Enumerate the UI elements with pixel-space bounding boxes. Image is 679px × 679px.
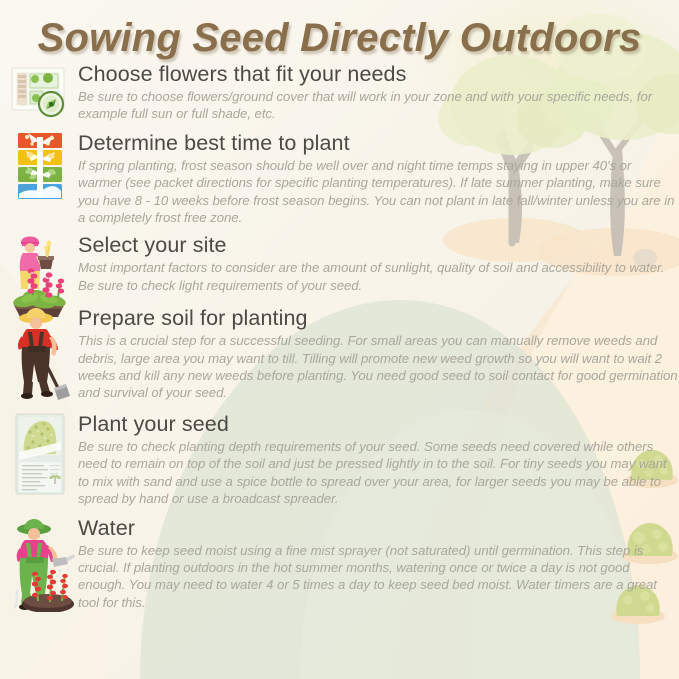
page-title: Sowing Seed Directly Outdoors — [38, 16, 642, 61]
step-heading: Choose flowers that fit your needs — [78, 62, 679, 87]
garden-plan-compass-icon — [8, 62, 72, 124]
seed-packet-icon — [8, 412, 72, 498]
gardener-watering-icon — [8, 516, 72, 612]
steps-list: Choose flowers that fit your needs Be su… — [0, 62, 679, 614]
step-heading: Plant your seed — [78, 412, 679, 437]
step-heading: Prepare soil for planting — [78, 306, 679, 331]
step-item: Choose flowers that fit your needs Be su… — [0, 62, 679, 123]
gardener-with-shovel-icon — [8, 306, 72, 402]
step-body: Be sure to keep seed moist using a fine … — [78, 542, 678, 612]
step-body: Be sure to choose flowers/ground cover t… — [78, 88, 678, 123]
step-item: Determine best time to plant If spring p… — [0, 131, 679, 227]
step-item: Plant your seed Be sure to check plantin… — [0, 412, 679, 508]
poster-title-wrap: Sowing Seed Directly Outdoors — [0, 16, 679, 61]
step-heading: Determine best time to plant — [78, 131, 679, 156]
step-body: This is a crucial step for a successful … — [78, 332, 678, 402]
step-item: Water Be sure to keep seed moist using a… — [0, 516, 679, 612]
step-body: Be sure to check planting depth requirem… — [78, 438, 678, 508]
step-heading: Water — [78, 516, 679, 541]
step-body: Most important factors to consider are t… — [78, 259, 678, 294]
infographic-poster: Sowing Seed Directly Outdoors — [0, 0, 679, 679]
four-seasons-tree-icon — [8, 131, 72, 201]
step-item: Select your site Most important factors … — [0, 233, 679, 294]
step-item: Prepare soil for planting This is a cruc… — [0, 306, 679, 402]
step-body: If spring planting, frost season should … — [78, 157, 678, 227]
step-heading: Select your site — [78, 233, 679, 258]
